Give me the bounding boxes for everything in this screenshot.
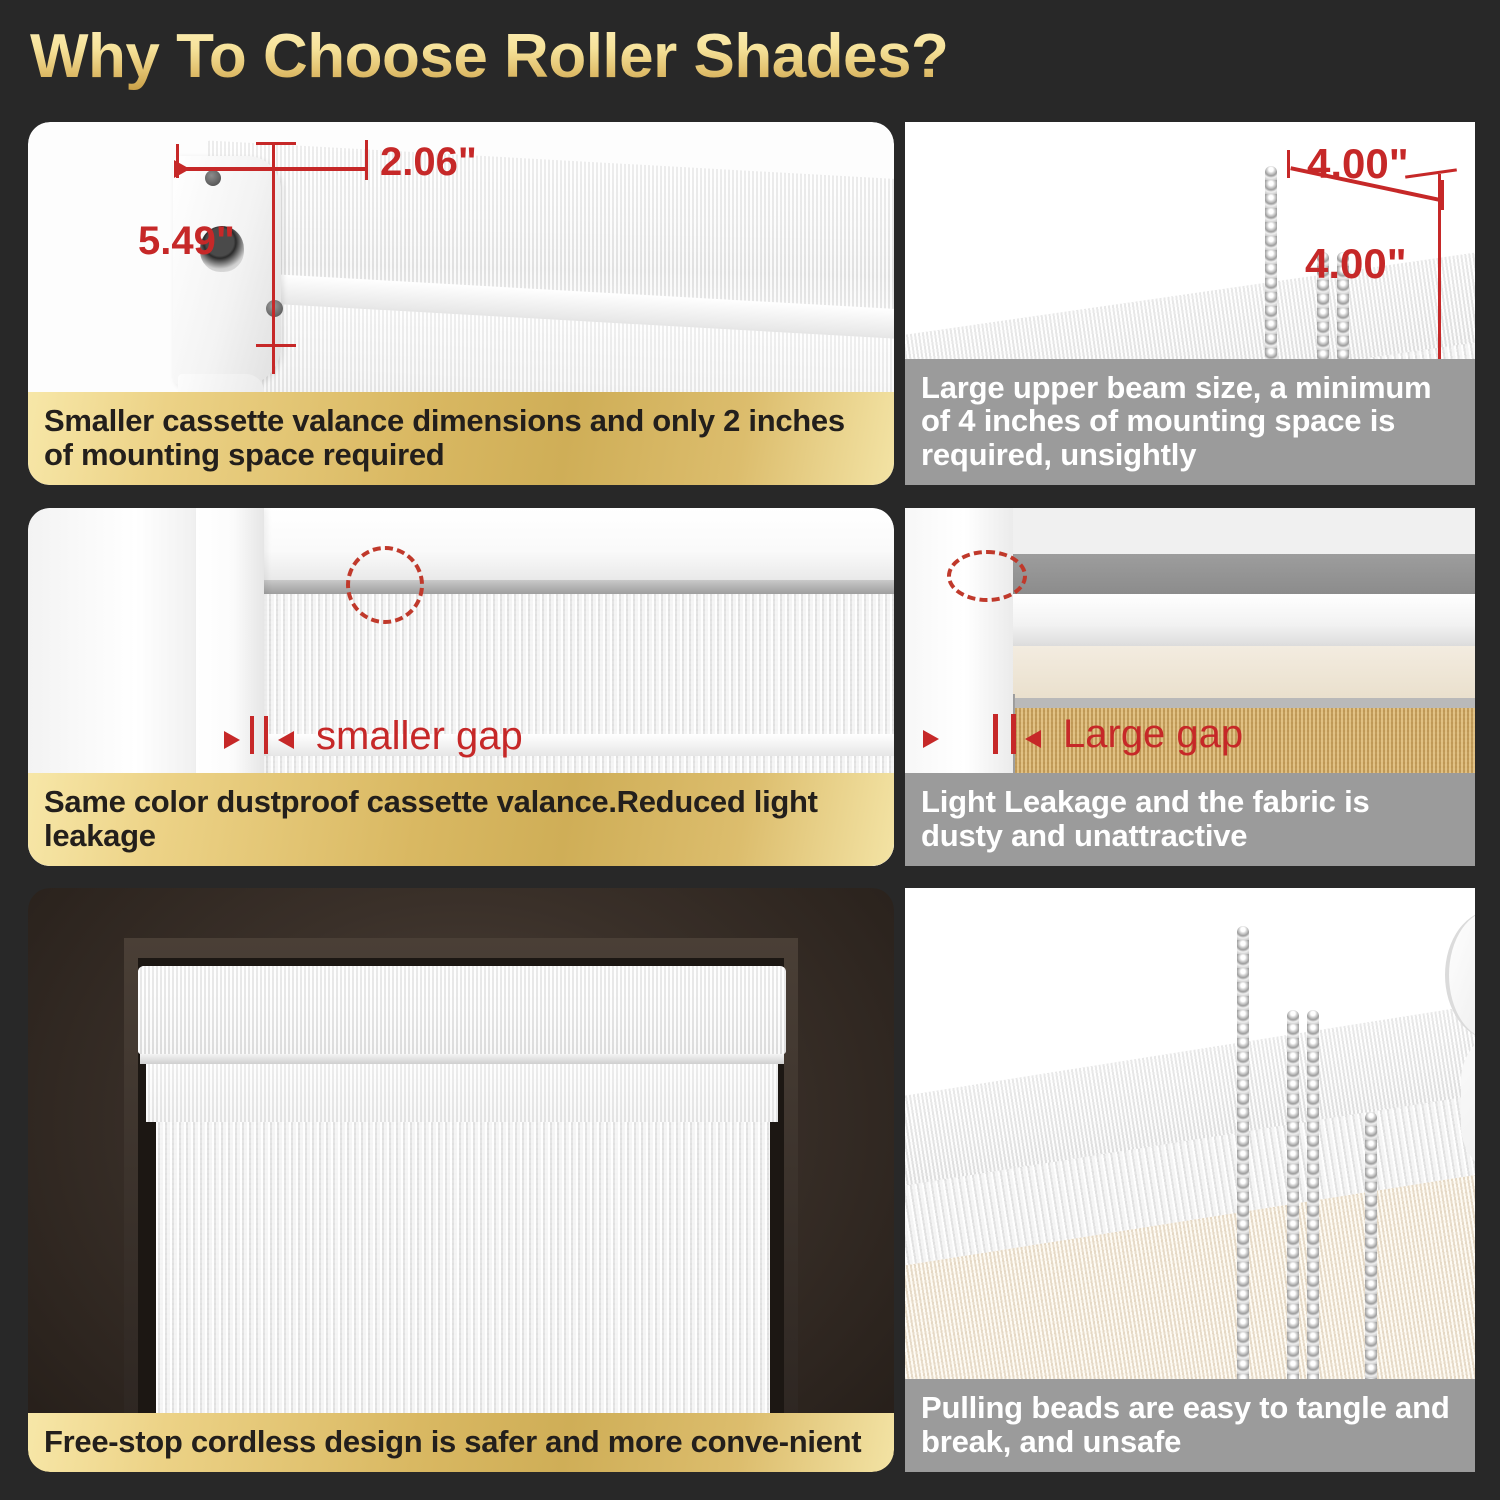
page-title: Why To Choose Roller Shades?: [30, 22, 1230, 92]
panel-smaller-gap-caption: Same color dustproof cassette valance.Re…: [28, 773, 894, 866]
valance-bottom-edge: [1001, 698, 1475, 708]
gap-label: smaller gap: [316, 714, 523, 759]
roller-shade-fabric: [156, 1122, 770, 1458]
beam-height-label: 4.00": [1305, 240, 1407, 288]
width-dimension-tick-left: [176, 144, 179, 178]
gap-tick-right: [1011, 714, 1016, 754]
height-dimension-label: 5.49": [138, 219, 235, 264]
beam-height-dimension-line: [1438, 174, 1441, 374]
screw-icon: [205, 170, 221, 186]
panel-cassette-dimensions-caption: Smaller cassette valance dimensions and …: [28, 392, 894, 485]
gap-arrow-left: [224, 731, 240, 749]
gap-tick-left: [250, 716, 254, 754]
gap-arrow-right: [278, 731, 294, 749]
panel-cordless-design: Free-stop cordless design is safer and m…: [28, 888, 894, 1472]
highlight-circle: [346, 546, 424, 624]
window-frame-top: [196, 508, 894, 580]
height-dimension-tick-top: [256, 142, 296, 145]
height-dimension-tick-bottom: [256, 344, 296, 347]
highlight-circle: [947, 550, 1027, 602]
panel-pulling-beads-caption: Pulling beads are easy to tangle and bre…: [905, 1379, 1475, 1472]
beam-width-label: 4.00": [1307, 140, 1409, 188]
beam-width-tick-right: [1441, 180, 1444, 210]
panel-large-gap: Large gap Light Leakage and the fabric i…: [905, 508, 1475, 866]
panel-large-beam: 4.00" 4.00" Large upper beam size, a min…: [905, 122, 1475, 485]
gap-tick-left: [993, 714, 998, 754]
valance-beige-band: [1001, 646, 1475, 698]
panel-large-gap-caption: Light Leakage and the fabric is dusty an…: [905, 773, 1475, 866]
panel-large-beam-caption: Large upper beam size, a minimum of 4 in…: [905, 359, 1475, 485]
width-dimension-tick-right: [365, 140, 368, 180]
height-dimension-line: [272, 144, 275, 374]
gap-label: Large gap: [1063, 712, 1243, 757]
cassette-band-upper: [260, 594, 894, 734]
cassette-valance-head: [138, 966, 786, 1054]
panel-cordless-design-photo: [28, 888, 894, 1472]
gap-tick-right: [264, 716, 268, 754]
upper-beam: [1001, 594, 1475, 646]
beam-width-tick-left: [1287, 150, 1290, 178]
cassette-valance-second: [146, 1064, 778, 1122]
upper-beam-shadow: [1001, 554, 1475, 594]
gap-arrow-left: [923, 730, 939, 748]
panel-cordless-design-caption: Free-stop cordless design is safer and m…: [28, 1413, 894, 1472]
infographic-root: Why To Choose Roller Shades? 2.06" 5.49": [0, 0, 1500, 1500]
gap-arrow-right: [1025, 730, 1041, 748]
panel-smaller-gap: smaller gap Same color dustproof cassett…: [28, 508, 894, 866]
panel-pulling-beads: Pulling beads are easy to tangle and bre…: [905, 888, 1475, 1472]
panel-cassette-dimensions: 2.06" 5.49" Smaller cassette valance dim…: [28, 122, 894, 485]
width-dimension-label: 2.06": [380, 140, 477, 185]
